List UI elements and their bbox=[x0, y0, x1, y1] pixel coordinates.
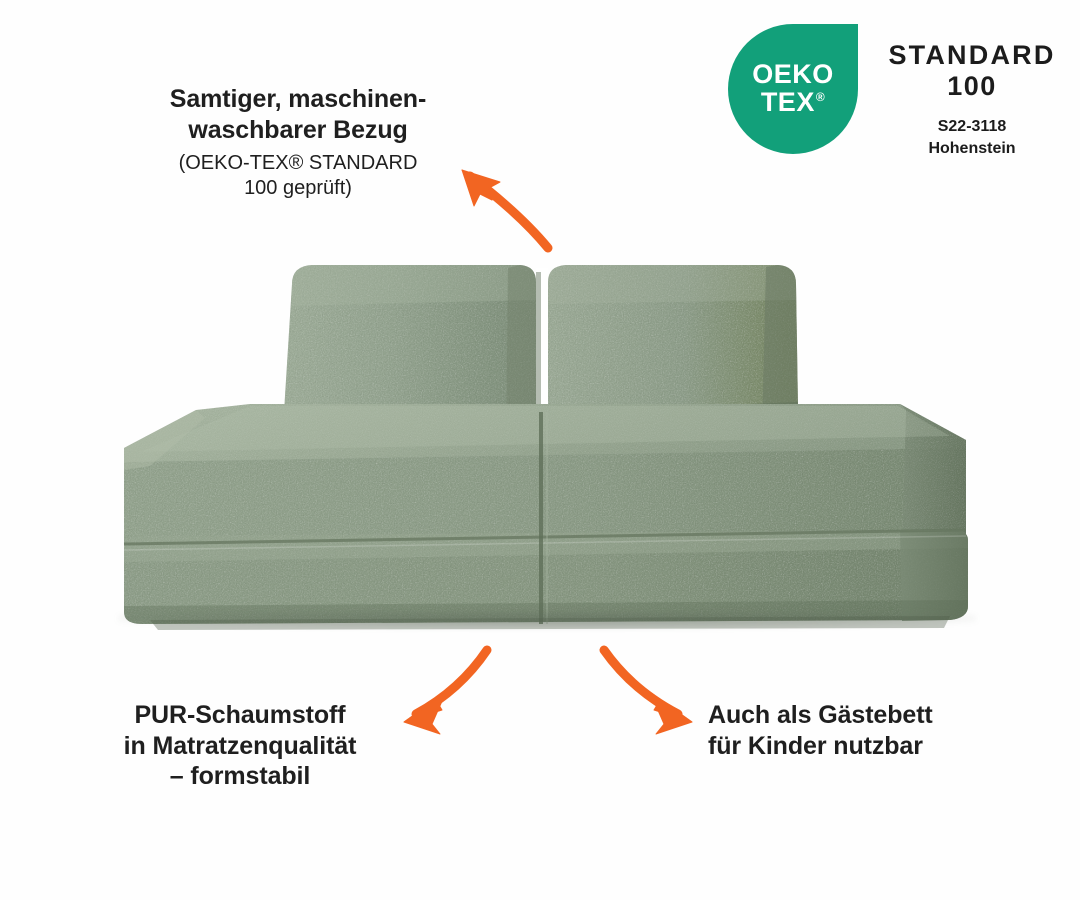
oeko-logo-tex-text: TEX bbox=[761, 89, 815, 117]
sofa-drop-shadow bbox=[118, 612, 976, 628]
callout-guest-bed: Auch als Gästebett für Kinder nutzbar bbox=[708, 700, 1008, 761]
callout-cover-heading: Samtiger, maschinen- waschbarer Bezug bbox=[128, 84, 468, 145]
callout-cover-sub-line2: 100 geprüft) bbox=[128, 176, 468, 201]
callout-cover-heading-line1: Samtiger, maschinen- bbox=[128, 84, 468, 115]
registered-trademark-icon: ® bbox=[816, 91, 825, 103]
callout-foam-line2: in Matratzenqualität bbox=[80, 731, 400, 762]
oeko-tex-standard-info: STANDARD 100 S22-3118 Hohenstein bbox=[876, 40, 1068, 159]
callout-cover-sub-line1: (OEKO-TEX® STANDARD bbox=[128, 151, 468, 176]
oeko-logo-line1: OEKO bbox=[752, 61, 834, 89]
callout-washable-cover: Samtiger, maschinen- waschbarer Bezug (O… bbox=[128, 84, 468, 201]
certificate-details: S22-3118 Hohenstein bbox=[876, 116, 1068, 159]
oeko-logo-line2: TEX® bbox=[761, 89, 825, 117]
callout-foam-line3: – formstabil bbox=[80, 761, 400, 792]
callout-guestbed-line2: für Kinder nutzbar bbox=[708, 731, 1008, 762]
product-infographic: OEKO TEX® STANDARD 100 S22-3118 Hohenste… bbox=[0, 0, 1080, 900]
callout-cover-heading-line2: waschbarer Bezug bbox=[128, 115, 468, 146]
callout-foam-heading: PUR-Schaumstoff in Matratzenqualität – f… bbox=[80, 700, 400, 792]
callout-cover-subtext: (OEKO-TEX® STANDARD 100 geprüft) bbox=[128, 151, 468, 201]
standard-number: 100 bbox=[876, 71, 1068, 102]
callout-foam-line1: PUR-Schaumstoff bbox=[80, 700, 400, 731]
callout-guestbed-line1: Auch als Gästebett bbox=[708, 700, 1008, 731]
certificate-number: S22-3118 bbox=[876, 116, 1068, 138]
standard-label: STANDARD bbox=[876, 40, 1068, 71]
certificate-institute: Hohenstein bbox=[876, 138, 1068, 160]
oeko-tex-certification-badge: OEKO TEX® STANDARD 100 S22-3118 Hohenste… bbox=[728, 24, 1068, 174]
oeko-tex-logo-icon: OEKO TEX® bbox=[728, 24, 858, 154]
callout-pur-foam: PUR-Schaumstoff in Matratzenqualität – f… bbox=[80, 700, 400, 792]
callout-guestbed-heading: Auch als Gästebett für Kinder nutzbar bbox=[708, 700, 1008, 761]
